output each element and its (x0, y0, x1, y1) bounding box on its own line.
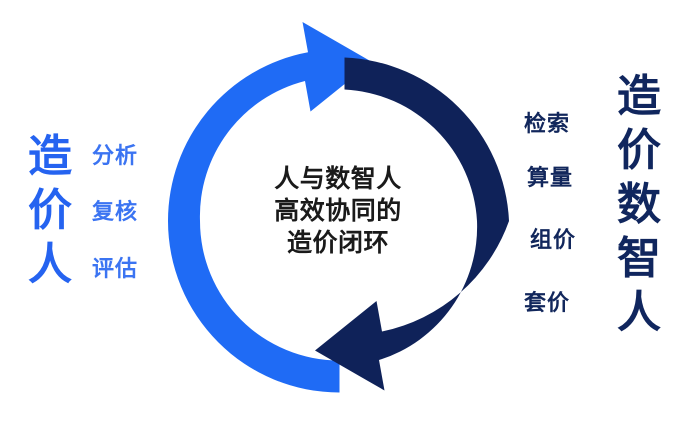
center-title-line-3: 造价闭环 (222, 227, 454, 259)
right-title-char-4: 智 (610, 232, 668, 286)
right-label-rate-application: 套价 (524, 290, 570, 316)
center-title: 人与数智人 高效协同的 造价闭环 (222, 163, 454, 259)
left-label-review: 复核 (92, 199, 154, 225)
diagram-canvas: 人与数智人 高效协同的 造价闭环 造 价 人 分析 复核 评估 造 价 数 智 … (0, 0, 692, 427)
left-label-analysis: 分析 (92, 143, 154, 169)
left-title-char-1: 造 (22, 130, 78, 184)
right-label-retrieval: 检索 (524, 111, 570, 137)
right-title-char-2: 价 (610, 124, 668, 178)
right-title-char-1: 造 (610, 70, 668, 124)
right-title-vertical: 造 价 数 智 人 (610, 70, 668, 340)
center-title-line-1: 人与数智人 (222, 163, 454, 195)
left-title-char-3: 人 (22, 238, 78, 292)
left-label-assessment: 评估 (92, 256, 154, 282)
center-title-line-2: 高效协同的 (222, 195, 454, 227)
left-title-vertical: 造 价 人 (22, 130, 78, 292)
right-label-pricing: 组价 (530, 227, 576, 253)
right-title-char-5: 人 (610, 286, 668, 340)
right-title-char-3: 数 (610, 178, 668, 232)
right-label-quantity: 算量 (527, 165, 573, 191)
left-title-char-2: 价 (22, 184, 78, 238)
